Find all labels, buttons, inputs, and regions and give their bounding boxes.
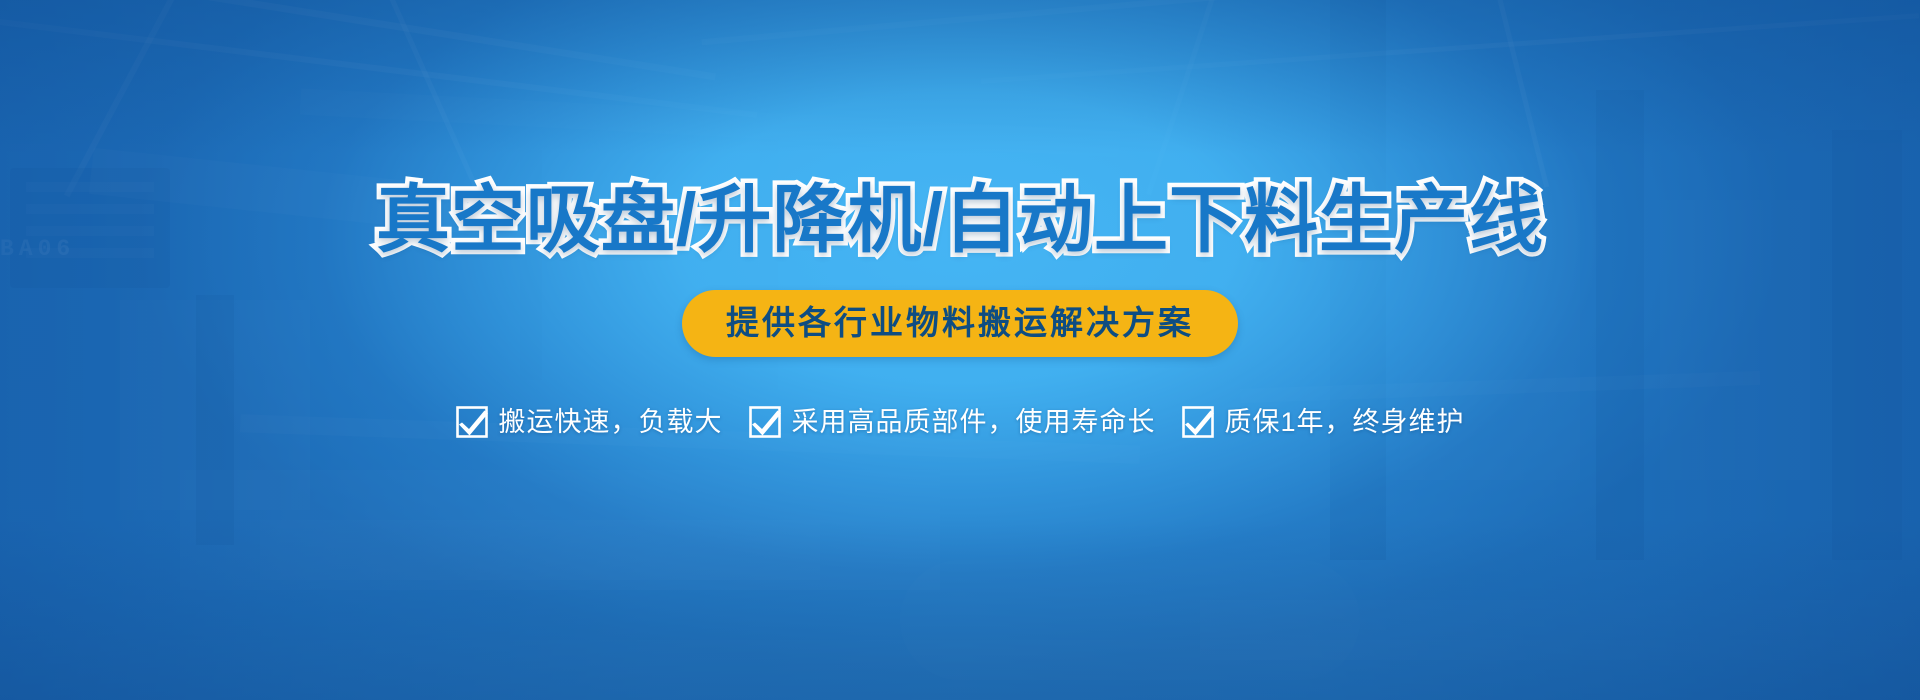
feature-label: 搬运快速，负载大 (498, 405, 722, 439)
feature-item: 采用高品质部件，使用寿命长 (748, 405, 1155, 439)
feature-list: 搬运快速，负载大 采用高品质部件，使用寿命长 质保1年，终身维护 (0, 405, 1920, 439)
check-box-icon (748, 405, 782, 439)
subtitle-pill: 提供各行业物料搬运解决方案 (682, 290, 1238, 357)
banner-headline: 真空吸盘/升降机/自动上下料生产线 (0, 174, 1920, 266)
feature-item: 搬运快速，负载大 (455, 405, 722, 439)
feature-item: 质保1年，终身维护 (1181, 405, 1464, 439)
banner-content: 真空吸盘/升降机/自动上下料生产线 提供各行业物料搬运解决方案 搬运快速，负载大… (0, 0, 1920, 700)
promo-banner: BA06 真空吸盘/升降机/自动上下料生产线 提供各行业物料搬运解决方案 搬运快… (0, 0, 1920, 700)
feature-label: 采用高品质部件，使用寿命长 (791, 405, 1155, 439)
feature-label: 质保1年，终身维护 (1224, 405, 1464, 439)
check-box-icon (1181, 405, 1215, 439)
check-box-icon (455, 405, 489, 439)
subtitle-pill-container: 提供各行业物料搬运解决方案 (0, 290, 1920, 357)
